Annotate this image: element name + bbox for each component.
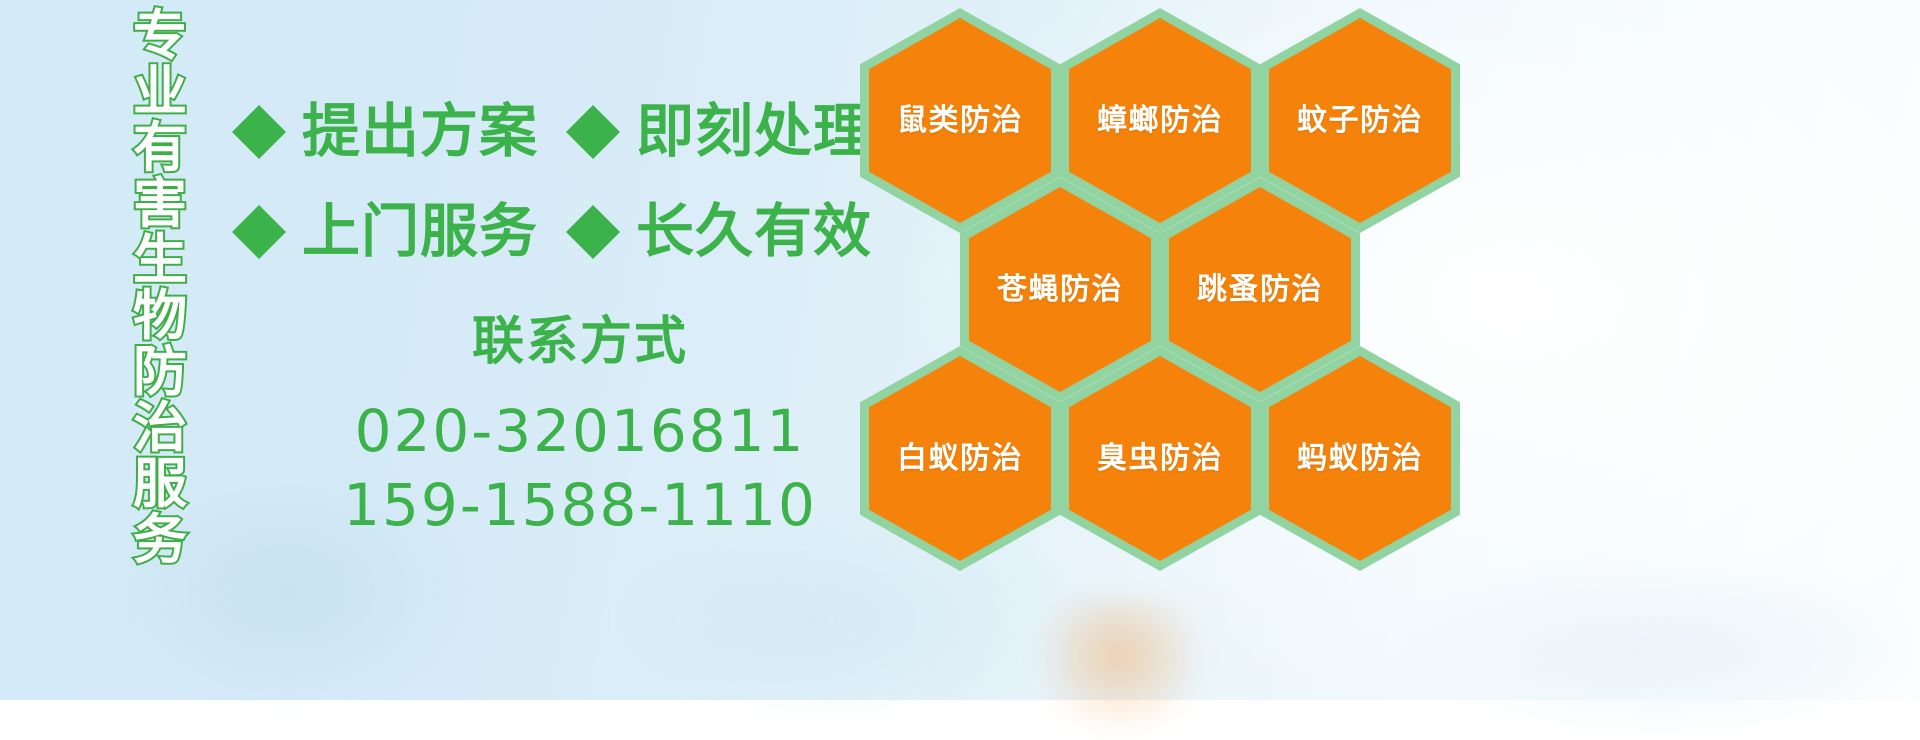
feature-label: 提出方案 <box>302 103 538 161</box>
vertical-slogan-char: 服 <box>133 458 187 514</box>
hexagon-fill: 蟑螂防治 <box>1069 18 1251 223</box>
service-label: 鼠类防治 <box>897 106 1023 136</box>
feature-item-propose-plan: 提出方案 <box>232 103 538 161</box>
contact-phone-landline[interactable]: 020-32016811 <box>300 394 860 468</box>
vertical-slogan-char: 物 <box>133 290 187 346</box>
diamond-bullet-icon <box>566 105 620 159</box>
service-label: 蟑螂防治 <box>1097 106 1223 136</box>
service-label: 臭虫防治 <box>1097 444 1223 474</box>
service-label: 跳蚤防治 <box>1197 275 1323 305</box>
service-label: 苍蝇防治 <box>997 275 1123 305</box>
vertical-slogan-char: 务 <box>133 514 187 570</box>
diamond-bullet-icon <box>232 105 286 159</box>
vertical-slogan-char: 业 <box>133 66 187 122</box>
feature-item-long-lasting-effect: 长久有效 <box>566 203 872 261</box>
vertical-slogan-char: 生 <box>133 234 187 290</box>
vertical-slogan-char: 害 <box>133 178 187 234</box>
diamond-bullet-icon <box>566 205 620 259</box>
diamond-bullet-icon <box>232 205 286 259</box>
service-label: 白蚁防治 <box>897 444 1023 474</box>
hexagon-fill: 蚂蚁防治 <box>1269 356 1451 561</box>
contact-block: 联系方式 020-32016811 159-1588-1110 <box>300 316 860 542</box>
vertical-slogan-char: 治 <box>133 402 187 458</box>
background-blur-blob-right <box>1400 560 1920 740</box>
feature-row: 提出方案 即刻处理 <box>232 82 872 182</box>
vertical-slogan: 专业有害生物防治服务 <box>108 10 212 570</box>
contact-title: 联系方式 <box>300 316 860 368</box>
feature-label: 上门服务 <box>302 203 538 261</box>
hexagon-fill: 蚊子防治 <box>1269 18 1451 223</box>
feature-label: 长久有效 <box>636 203 872 261</box>
vertical-slogan-char: 专 <box>133 10 187 66</box>
hexagon-fill: 臭虫防治 <box>1069 356 1251 561</box>
service-label: 蚂蚁防治 <box>1297 444 1423 474</box>
feature-list: 提出方案 即刻处理 上门服务 长久有效 <box>232 82 872 282</box>
hexagon-fill: 白蚁防治 <box>869 356 1051 561</box>
hexagon-fill: 跳蚤防治 <box>1169 187 1351 392</box>
vertical-slogan-char: 防 <box>133 346 187 402</box>
pest-control-banner: 专业有害生物防治服务 提出方案 即刻处理 上门服务 长久有效 <box>0 0 1920 700</box>
hexagon-fill: 苍蝇防治 <box>969 187 1151 392</box>
contact-phone-mobile[interactable]: 159-1588-1110 <box>300 468 860 542</box>
service-hexagon-grid: 鼠类防治 蟑螂防治 蚊子防治 苍蝇防治 跳蚤防治 白蚁防治 <box>856 0 1476 700</box>
feature-item-door-to-door-service: 上门服务 <box>232 203 538 261</box>
feature-row: 上门服务 长久有效 <box>232 182 872 282</box>
service-label: 蚊子防治 <box>1297 106 1423 136</box>
feature-label: 即刻处理 <box>636 103 872 161</box>
vertical-slogan-char: 有 <box>133 122 187 178</box>
feature-item-immediate-handling: 即刻处理 <box>566 103 872 161</box>
hexagon-fill: 鼠类防治 <box>869 18 1051 223</box>
